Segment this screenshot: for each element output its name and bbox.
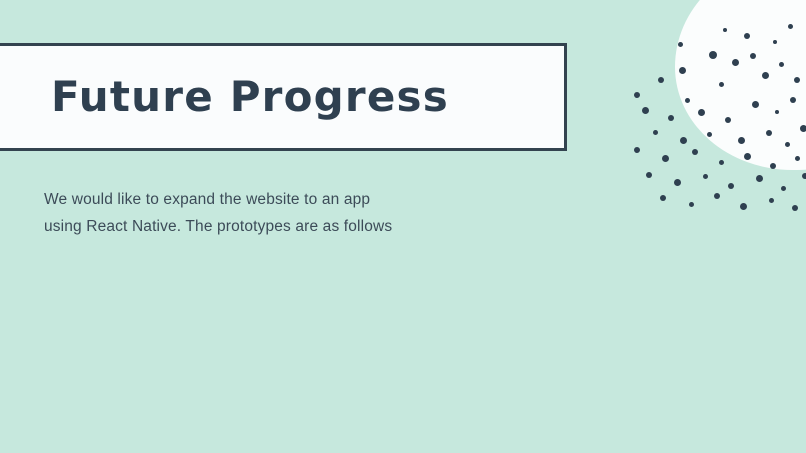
decorative-dot [719, 82, 724, 87]
decorative-dot [642, 107, 649, 114]
body-line-2: using React Native. The prototypes are a… [44, 213, 464, 240]
decorative-dot [668, 115, 674, 121]
decorative-dot [744, 153, 751, 160]
decorative-dot [785, 142, 790, 147]
decorative-dot [698, 109, 705, 116]
decorative-dot [703, 174, 708, 179]
decorative-dot [756, 175, 763, 182]
decorative-dot [674, 179, 681, 186]
decorative-dot [795, 156, 800, 161]
decorative-dot [653, 130, 658, 135]
decorative-dot [707, 132, 712, 137]
decorative-dot [775, 110, 779, 114]
decorative-dot [725, 117, 731, 123]
decorative-dot [788, 24, 793, 29]
decorative-dot [766, 130, 772, 136]
decorative-dot [802, 173, 806, 179]
decorative-dot [750, 53, 756, 59]
decorative-dot [792, 205, 798, 211]
page-title: Future Progress [51, 76, 449, 118]
decorative-dot [752, 101, 759, 108]
decorative-dot [800, 125, 806, 132]
decorative-dot [770, 163, 776, 169]
decorative-dot [740, 203, 747, 210]
decorative-dot [685, 98, 690, 103]
body-line-1: We would like to expand the website to a… [44, 186, 464, 213]
decorative-dot [709, 51, 717, 59]
decorative-dot [689, 202, 694, 207]
decorative-dot [646, 172, 652, 178]
white-circle-shape [675, 0, 806, 170]
decorative-dot [790, 97, 796, 103]
decorative-dot [680, 137, 687, 144]
decorative-dot [779, 62, 784, 67]
decorative-dot [634, 147, 640, 153]
decorative-dot [634, 92, 640, 98]
decorative-dot [723, 28, 727, 32]
decorative-dot [658, 77, 664, 83]
decorative-dot [794, 77, 800, 83]
slide-canvas: Future Progress We would like to expand … [0, 0, 806, 453]
body-paragraph: We would like to expand the website to a… [44, 186, 464, 240]
decorative-dot [714, 193, 720, 199]
decorative-dot [679, 67, 686, 74]
decorative-dot [660, 195, 666, 201]
decorative-dot [769, 198, 774, 203]
decorative-dot [662, 155, 669, 162]
scattered-dots-pattern [625, 0, 806, 230]
decorative-dot [732, 59, 739, 66]
decorative-dot [762, 72, 769, 79]
decorative-dot [692, 149, 698, 155]
decorative-dot [773, 40, 777, 44]
decorative-dot [678, 42, 683, 47]
decorative-dot [744, 33, 750, 39]
decorative-dot [728, 183, 734, 189]
decorative-dot [738, 137, 745, 144]
decorative-dot [719, 160, 724, 165]
title-box: Future Progress [0, 43, 567, 151]
decorative-dot [781, 186, 786, 191]
